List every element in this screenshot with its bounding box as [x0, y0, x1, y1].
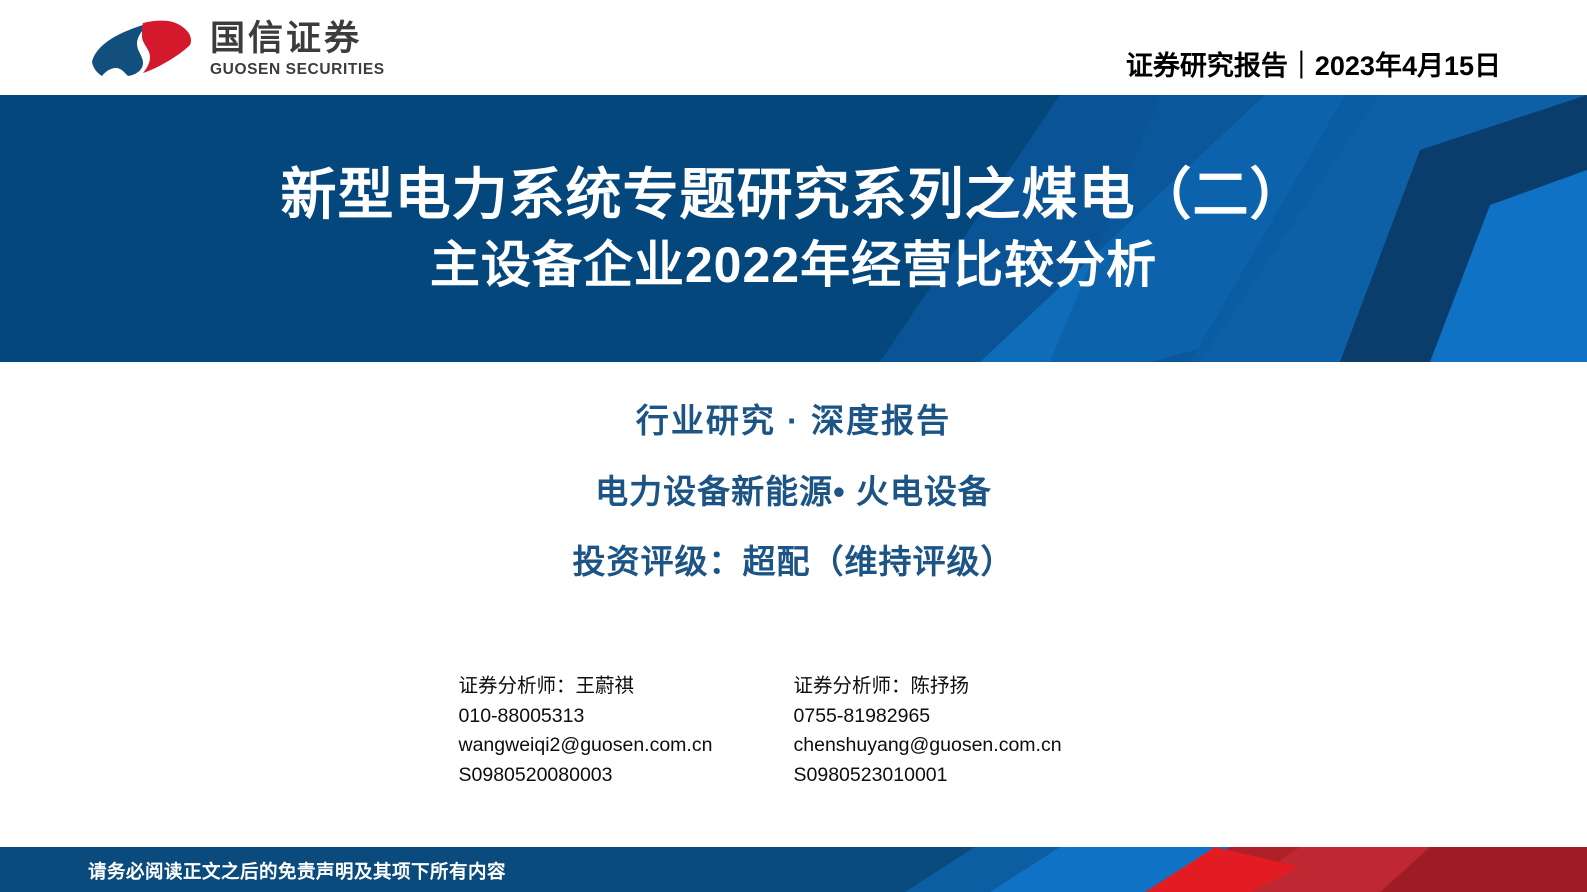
analyst-card-1: 证券分析师：王蔚祺 010-88005313 wangweiqi2@guosen… — [459, 672, 794, 791]
report-title-line-1: 新型电力系统专题研究系列之煤电（二） — [281, 162, 1307, 228]
logo-english-name: GUOSEN SECURITIES — [210, 61, 385, 80]
report-type-and-date: 证券研究报告｜2023年4月15日 — [1126, 44, 1501, 83]
analyst-email[interactable]: chenshuyang@guosen.com.cn — [794, 731, 1129, 761]
logo-chinese-name: 国信证券 — [210, 21, 385, 58]
report-subtitle-group: 行业研究 · 深度报告 电力设备新能源• 火电设备 投资评级：超配（维持评级） — [0, 400, 1587, 582]
guosen-logo-wordmark: 国信证券 GUOSEN SECURITIES — [210, 19, 385, 79]
analyst-contacts: 证券分析师：王蔚祺 010-88005313 wangweiqi2@guosen… — [0, 672, 1587, 791]
industry-sector-label: 电力设备新能源• 火电设备 — [0, 471, 1587, 512]
analyst-email[interactable]: wangweiqi2@guosen.com.cn — [459, 731, 794, 761]
analyst-card-2: 证券分析师：陈抒扬 0755-81982965 chenshuyang@guos… — [794, 672, 1129, 791]
title-banner: 新型电力系统专题研究系列之煤电（二） 主设备企业2022年经营比较分析 — [0, 95, 1587, 362]
analyst-license-number: S0980520080003 — [459, 761, 794, 791]
page-footer: 请务必阅读正文之后的免责声明及其项下所有内容 — [0, 847, 1587, 892]
analyst-license-number: S0980523010001 — [794, 761, 1129, 791]
guosen-logo: 国信证券 GUOSEN SECURITIES — [88, 18, 385, 80]
footer-disclaimer-text: 请务必阅读正文之后的免责声明及其项下所有内容 — [88, 858, 506, 884]
guosen-logo-mark-icon — [88, 18, 196, 80]
analyst-phone: 0755-81982965 — [794, 702, 1129, 732]
page-header: 国信证券 GUOSEN SECURITIES 证券研究报告｜2023年4月15日 — [0, 0, 1587, 95]
analyst-name: 证券分析师：王蔚祺 — [459, 672, 794, 702]
banner-title-group: 新型电力系统专题研究系列之煤电（二） 主设备企业2022年经营比较分析 — [0, 95, 1587, 362]
report-title-line-2: 主设备企业2022年经营比较分析 — [430, 236, 1157, 295]
report-cover-page: 国信证券 GUOSEN SECURITIES 证券研究报告｜2023年4月15日… — [0, 0, 1587, 892]
analyst-phone: 010-88005313 — [459, 702, 794, 732]
analyst-name: 证券分析师：陈抒扬 — [794, 672, 1129, 702]
research-category-label: 行业研究 · 深度报告 — [0, 400, 1587, 441]
investment-rating-label: 投资评级：超配（维持评级） — [0, 541, 1587, 582]
